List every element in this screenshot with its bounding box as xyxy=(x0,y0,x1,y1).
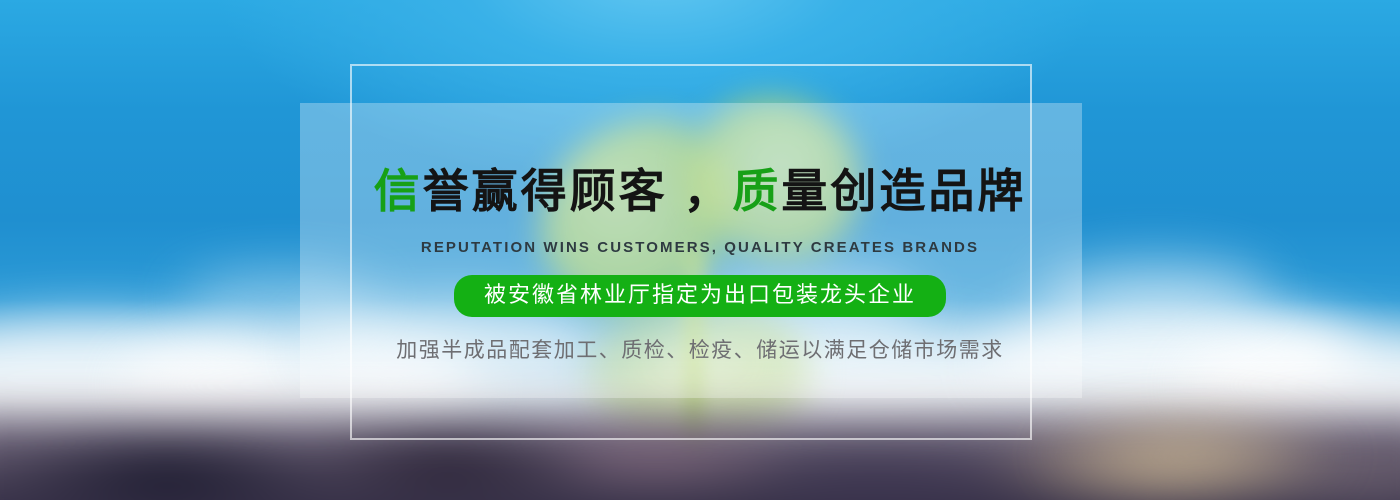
headline-accent-1: 信 xyxy=(374,165,423,217)
hero-banner: 信誉赢得顾客 ，质量创造品牌 REPUTATION WINS CUSTOMERS… xyxy=(0,0,1400,500)
tagline: 加强半成品配套加工、质检、检疫、储运以满足仓储市场需求 xyxy=(0,336,1400,366)
badge-row: 被安徽省林业厅指定为出口包装龙头企业 xyxy=(0,275,1400,317)
headline-part-2: 量创造品牌 xyxy=(781,165,1026,217)
headline: 信誉赢得顾客 ，质量创造品牌 xyxy=(0,163,1400,219)
status-badge: 被安徽省林业厅指定为出口包装龙头企业 xyxy=(454,275,946,317)
banner-content: 信誉赢得顾客 ，质量创造品牌 REPUTATION WINS CUSTOMERS… xyxy=(0,0,1400,500)
headline-accent-2: 质 xyxy=(732,165,781,217)
headline-part-1: 誉赢得顾客 ， xyxy=(423,165,733,217)
subtitle-english: REPUTATION WINS CUSTOMERS, QUALITY CREAT… xyxy=(0,238,1400,258)
